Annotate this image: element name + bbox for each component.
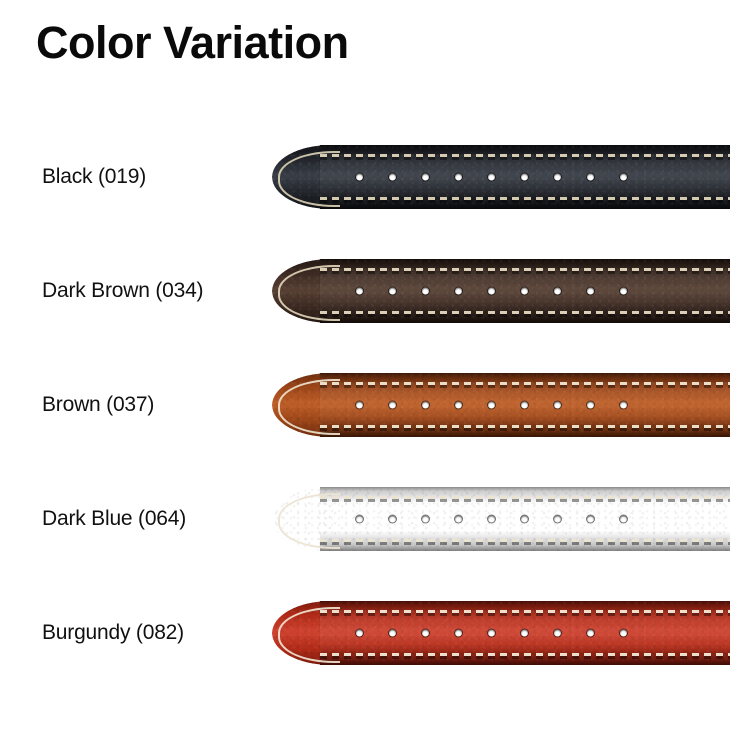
strap-hole-row <box>356 174 627 181</box>
strap-hole <box>455 288 462 295</box>
strap-hole <box>356 288 363 295</box>
strap-hole <box>587 402 594 409</box>
variation-label: Dark Blue (064) <box>42 507 186 531</box>
stitch-shadow-top <box>320 271 730 274</box>
strap-hole <box>488 174 495 181</box>
contrast-stitch-bottom <box>320 197 730 200</box>
stitch-shadow-bottom <box>320 428 730 431</box>
stitch-shadow-top <box>320 499 730 502</box>
variation-label: Dark Brown (034) <box>42 279 203 303</box>
strap-hole <box>356 630 363 637</box>
contrast-stitch-top <box>320 496 730 499</box>
strap-hole <box>455 516 462 523</box>
contrast-stitch-top <box>320 382 730 385</box>
strap-hole-row <box>356 630 627 637</box>
strap-hole <box>356 516 363 523</box>
strap-hole <box>422 174 429 181</box>
strap-hole <box>389 174 396 181</box>
watch-strap-image[interactable] <box>272 373 730 437</box>
contrast-stitch-bottom <box>320 425 730 428</box>
strap-hole <box>455 174 462 181</box>
strap-hole <box>488 402 495 409</box>
watch-strap-image[interactable] <box>272 259 730 323</box>
page-title: Color Variation <box>36 17 349 69</box>
strap-hole <box>389 516 396 523</box>
strap-hole <box>356 174 363 181</box>
strap-hole <box>620 402 627 409</box>
contrast-stitch-top <box>320 154 730 157</box>
strap-hole <box>620 288 627 295</box>
strap-hole-row <box>356 288 627 295</box>
strap-hole <box>389 288 396 295</box>
variation-label: Burgundy (082) <box>42 621 184 645</box>
contrast-stitch-top <box>320 610 730 613</box>
variation-row[interactable]: Black (019) <box>0 139 730 215</box>
color-variation-page: Color Variation Black (019)Dark Brown (0… <box>0 0 730 730</box>
strap-hole-row <box>356 402 627 409</box>
strap-hole <box>488 516 495 523</box>
stitch-shadow-bottom <box>320 656 730 659</box>
strap-hole <box>587 630 594 637</box>
strap-hole <box>587 516 594 523</box>
variation-row[interactable]: Dark Brown (034) <box>0 253 730 329</box>
strap-hole <box>620 516 627 523</box>
strap-hole <box>389 630 396 637</box>
strap-hole-row <box>356 516 627 523</box>
strap-hole <box>422 630 429 637</box>
strap-hole <box>587 288 594 295</box>
strap-hole <box>356 402 363 409</box>
contrast-stitch-bottom <box>320 653 730 656</box>
strap-hole <box>389 402 396 409</box>
strap-hole <box>521 630 528 637</box>
stitch-shadow-top <box>320 157 730 160</box>
strap-hole <box>488 630 495 637</box>
strap-hole <box>422 402 429 409</box>
strap-hole <box>554 630 561 637</box>
contrast-stitch-bottom <box>320 539 730 542</box>
variation-label: Black (019) <box>42 165 146 189</box>
strap-hole <box>455 402 462 409</box>
strap-hole <box>422 516 429 523</box>
variation-row[interactable]: Burgundy (082) <box>0 595 730 671</box>
strap-hole <box>521 516 528 523</box>
strap-hole <box>554 516 561 523</box>
contrast-stitch-top <box>320 268 730 271</box>
stitch-shadow-top <box>320 613 730 616</box>
variation-row[interactable]: Dark Blue (064) <box>0 481 730 557</box>
contrast-stitch-bottom <box>320 311 730 314</box>
strap-hole <box>455 630 462 637</box>
stitch-shadow-bottom <box>320 314 730 317</box>
variation-row[interactable]: Brown (037) <box>0 367 730 443</box>
strap-hole <box>521 288 528 295</box>
strap-hole <box>422 288 429 295</box>
stitch-shadow-top <box>320 385 730 388</box>
stitch-shadow-bottom <box>320 200 730 203</box>
watch-strap-image[interactable] <box>272 145 730 209</box>
strap-hole <box>620 630 627 637</box>
strap-hole <box>554 174 561 181</box>
stitch-shadow-bottom <box>320 542 730 545</box>
strap-hole <box>554 402 561 409</box>
strap-hole <box>521 402 528 409</box>
strap-hole <box>488 288 495 295</box>
strap-hole <box>620 174 627 181</box>
variation-label: Brown (037) <box>42 393 154 417</box>
strap-hole <box>587 174 594 181</box>
watch-strap-image[interactable] <box>272 487 730 551</box>
strap-hole <box>554 288 561 295</box>
watch-strap-image[interactable] <box>272 601 730 665</box>
strap-hole <box>521 174 528 181</box>
